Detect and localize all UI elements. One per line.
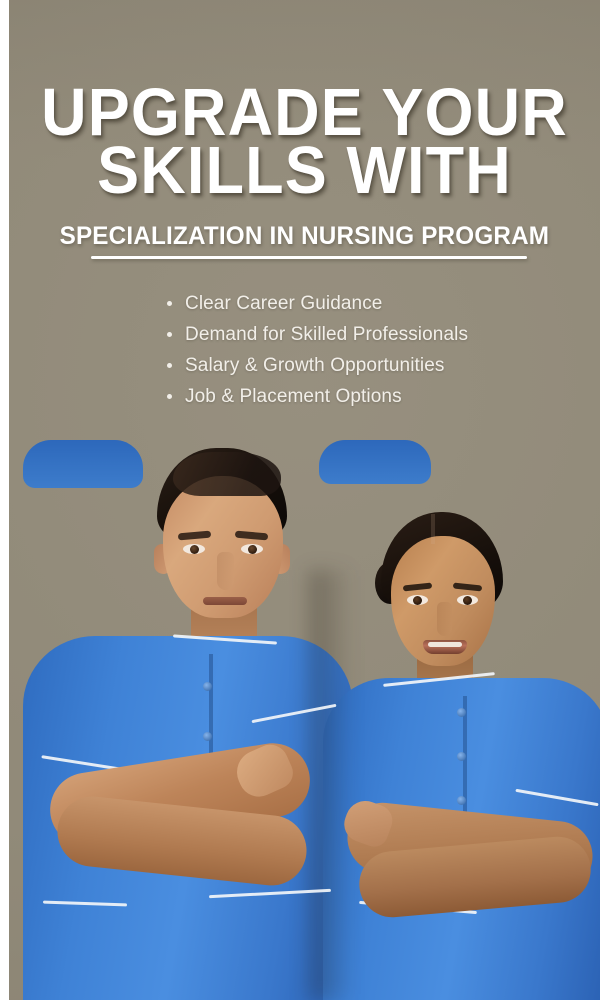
subtitle-container: SPECIALIZATION IN NURSING PROGRAM (9, 222, 600, 250)
program-subtitle: SPECIALIZATION IN NURSING PROGRAM (60, 222, 550, 250)
male-nurse-figure (23, 440, 353, 1000)
female-nurse-hair-part (431, 514, 435, 544)
male-nurse-nose (217, 552, 234, 590)
list-item: Demand for Skilled Professionals (167, 319, 468, 350)
female-nurse-nose (437, 602, 452, 636)
list-item: Job & Placement Options (167, 381, 468, 412)
male-nurse-eye-left (183, 544, 205, 554)
female-nurse-button-2 (457, 752, 466, 761)
male-nurse-mouth (203, 597, 247, 605)
female-nurse-figure (319, 440, 600, 1000)
subtitle-underline-rule (91, 256, 527, 259)
female-nurse-button-3 (457, 796, 466, 805)
female-nurse-smile (423, 640, 467, 654)
nursing-program-poster: UPGRADE YOUR SKILLS WITH SPECIALIZATION … (0, 0, 600, 1000)
male-nurse-button-2 (203, 732, 212, 741)
female-nurse-collar (319, 440, 431, 484)
benefits-list: Clear Career Guidance Demand for Skilled… (167, 288, 468, 412)
male-nurse-collar (23, 440, 143, 488)
poster-canvas: UPGRADE YOUR SKILLS WITH SPECIALIZATION … (9, 0, 600, 1000)
list-item: Clear Career Guidance (167, 288, 468, 319)
female-nurse-eye-left (407, 595, 428, 605)
male-nurse-hair-highlight (173, 452, 281, 496)
female-nurse-eye-right (457, 595, 478, 605)
male-nurse-button-1 (203, 682, 212, 691)
list-item: Salary & Growth Opportunities (167, 350, 468, 381)
headline-line-2: SKILLS WITH (27, 142, 583, 200)
photo-alt-text: Two nurses in blue uniforms standing wit… (9, 440, 10, 441)
male-nurse-eye-right (241, 544, 263, 554)
nurses-photo: Two nurses in blue uniforms standing wit… (9, 440, 600, 1000)
headline: UPGRADE YOUR SKILLS WITH (9, 84, 600, 200)
female-nurse-button-1 (457, 708, 466, 717)
